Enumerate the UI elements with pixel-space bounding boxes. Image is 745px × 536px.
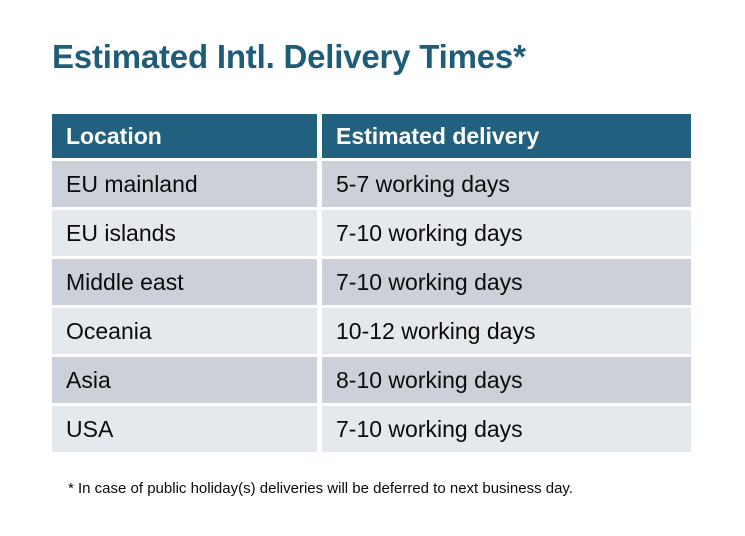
- delivery-times-page: Estimated Intl. Delivery Times* Location…: [0, 0, 745, 536]
- cell-delivery: 8-10 working days: [322, 357, 691, 403]
- cell-location: USA: [52, 406, 317, 452]
- table-row: Asia 8-10 working days: [52, 357, 691, 403]
- cell-location: Asia: [52, 357, 317, 403]
- table-row: Middle east 7-10 working days: [52, 259, 691, 305]
- cell-delivery: 7-10 working days: [322, 210, 691, 256]
- cell-delivery: 7-10 working days: [322, 259, 691, 305]
- cell-location: Middle east: [52, 259, 317, 305]
- column-header-estimated-delivery: Estimated delivery: [322, 114, 691, 158]
- page-title: Estimated Intl. Delivery Times*: [52, 38, 526, 76]
- cell-delivery: 5-7 working days: [322, 161, 691, 207]
- table-header-row: Location Estimated delivery: [52, 114, 691, 158]
- cell-location: EU mainland: [52, 161, 317, 207]
- cell-location: EU islands: [52, 210, 317, 256]
- footnote: * In case of public holiday(s) deliverie…: [68, 480, 573, 497]
- table-row: EU islands 7-10 working days: [52, 210, 691, 256]
- delivery-times-table: Location Estimated delivery EU mainland …: [52, 114, 691, 455]
- table-row: EU mainland 5-7 working days: [52, 161, 691, 207]
- table-row: Oceania 10-12 working days: [52, 308, 691, 354]
- cell-delivery: 7-10 working days: [322, 406, 691, 452]
- column-header-location: Location: [52, 114, 317, 158]
- cell-delivery: 10-12 working days: [322, 308, 691, 354]
- table-row: USA 7-10 working days: [52, 406, 691, 452]
- cell-location: Oceania: [52, 308, 317, 354]
